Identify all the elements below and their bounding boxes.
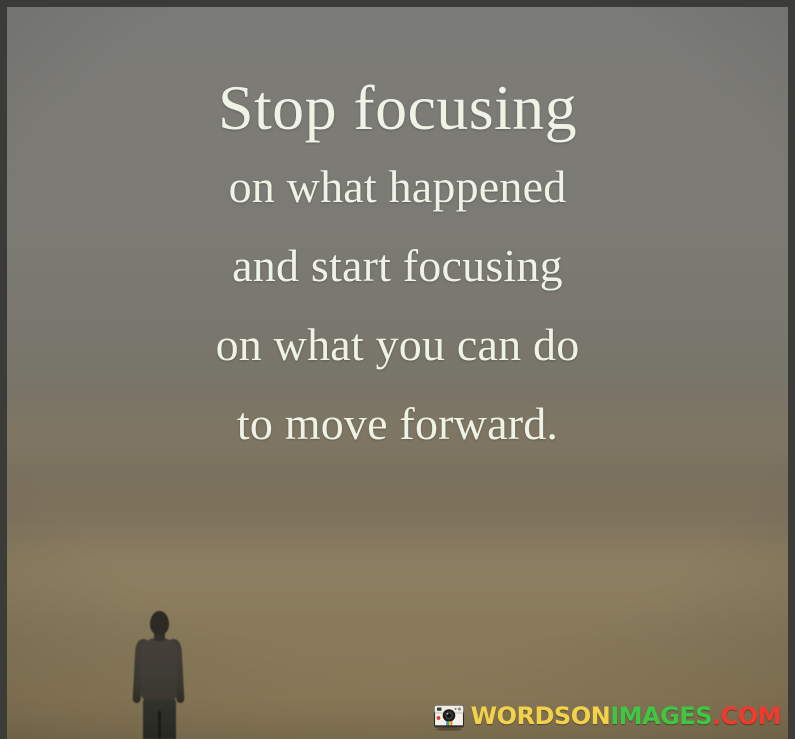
polaroid-camera-icon (432, 701, 466, 731)
quote-line-4: on what you can do (0, 322, 795, 368)
person-silhouette (115, 611, 201, 739)
silhouette-torso (141, 638, 177, 700)
quote-line-1: Stop focusing (0, 76, 795, 140)
silhouette-leg-gap (158, 711, 161, 739)
quote-line-3: and start focusing (0, 243, 795, 289)
watermark-com: .COM (712, 702, 781, 730)
quote-text-block: Stop focusing on what happened and start… (0, 76, 795, 447)
quote-line-2: on what happened (0, 164, 795, 210)
quote-line-5: to move forward. (0, 401, 795, 447)
watermark[interactable]: WORDSONIMAGES.COM (432, 701, 781, 731)
silhouette-head (150, 611, 169, 635)
watermark-images: IMAGES (610, 702, 712, 730)
watermark-text: WORDSONIMAGES.COM (471, 704, 781, 728)
watermark-words: WORDSON (471, 702, 611, 730)
quote-image-card: Stop focusing on what happened and start… (0, 0, 795, 739)
